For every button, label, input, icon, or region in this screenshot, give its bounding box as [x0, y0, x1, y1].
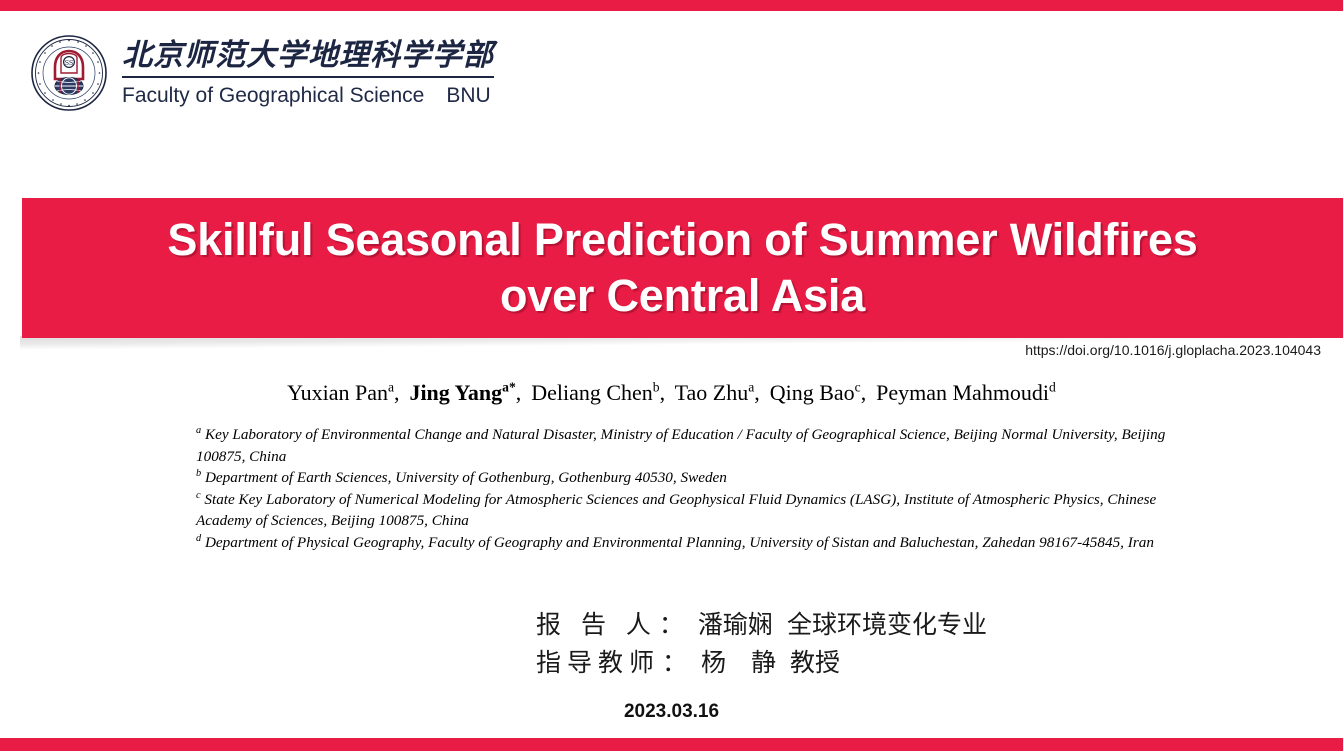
advisor-name: 杨 静: [701, 648, 776, 677]
institution-header: SS 北京师范大学地理科学学部 Faculty of Geographical …: [30, 34, 494, 112]
author-affiliation-marker: a*: [502, 380, 516, 395]
presentation-date: 2023.03.16: [0, 700, 1343, 724]
speaker-name: 潘瑜娴: [698, 610, 773, 639]
speaker-colon: ：: [659, 610, 684, 639]
author-separator: ,: [394, 380, 409, 405]
author-entry: Qing Baoc: [770, 380, 861, 405]
author-name: Deliang Chen: [531, 380, 653, 405]
institution-abbr: BNU: [446, 84, 490, 107]
author-entry: Yuxian Pana: [287, 380, 394, 405]
author-entry: Jing Yanga*: [409, 380, 515, 405]
author-name: Peyman Mahmoudi: [876, 380, 1049, 405]
advisor-title: 教授: [790, 648, 840, 677]
author-list: Yuxian Pana, Jing Yanga*, Deliang Chenb,…: [0, 378, 1343, 408]
author-name: Jing Yang: [409, 380, 502, 405]
institution-name-cn: 北京师范大学地理科学学部: [122, 38, 494, 78]
presenter-speaker-row: 报 告 人：潘瑜娴全球环境变化专业: [0, 606, 1343, 644]
affiliation-text: Department of Physical Geography, Facult…: [201, 534, 1154, 551]
affiliation-item: d Department of Physical Geography, Facu…: [196, 532, 1186, 554]
presenter-block: 报 告 人：潘瑜娴全球环境变化专业 指导教师：杨 静教授: [0, 606, 1343, 682]
affiliation-item: a Key Laboratory of Environmental Change…: [196, 424, 1186, 467]
institution-wordmark: 北京师范大学地理科学学部 Faculty of Geographical Sci…: [122, 38, 494, 109]
doi-link[interactable]: https://doi.org/10.1016/j.gloplacha.2023…: [1025, 341, 1321, 359]
university-seal-icon: SS: [30, 34, 108, 112]
presentation-title-slide: SS 北京师范大学地理科学学部 Faculty of Geographical …: [0, 0, 1343, 751]
title-line-2: over Central Asia: [500, 268, 865, 324]
author-affiliation-marker: b: [653, 380, 660, 395]
affiliation-text: Key Laboratory of Environmental Change a…: [196, 426, 1165, 465]
institution-name-en: Faculty of Geographical ScienceBNU: [122, 83, 494, 109]
author-separator: ,: [861, 380, 876, 405]
author-name: Tao Zhu: [675, 380, 749, 405]
top-accent-bar: [0, 0, 1343, 11]
title-banner: Skillful Seasonal Prediction of Summer W…: [22, 198, 1343, 338]
speaker-label: 报 告 人: [536, 610, 657, 639]
author-separator: ,: [660, 380, 675, 405]
advisor-colon: ：: [662, 648, 687, 677]
affiliation-item: b Department of Earth Sciences, Universi…: [196, 467, 1186, 489]
bottom-accent-bar: [0, 738, 1343, 751]
author-separator: ,: [516, 380, 531, 405]
affiliation-text: State Key Laboratory of Numerical Modeli…: [196, 491, 1156, 530]
author-affiliation-marker: d: [1049, 380, 1056, 395]
author-entry: Peyman Mahmoudid: [876, 380, 1056, 405]
svg-text:SS: SS: [65, 59, 74, 67]
author-name: Yuxian Pan: [287, 380, 388, 405]
affiliation-text: Department of Earth Sciences, University…: [201, 469, 727, 486]
speaker-major: 全球环境变化专业: [787, 610, 987, 639]
affiliation-item: c State Key Laboratory of Numerical Mode…: [196, 489, 1186, 532]
author-separator: ,: [754, 380, 769, 405]
author-entry: Tao Zhua: [675, 380, 755, 405]
presenter-advisor-row: 指导教师：杨 静教授: [0, 644, 1343, 682]
author-entry: Deliang Chenb: [531, 380, 659, 405]
title-line-1: Skillful Seasonal Prediction of Summer W…: [167, 212, 1197, 268]
author-name: Qing Bao: [770, 380, 855, 405]
institution-name-en-text: Faculty of Geographical Science: [122, 84, 424, 107]
affiliation-list: a Key Laboratory of Environmental Change…: [196, 424, 1186, 553]
advisor-label: 指导教师: [536, 648, 660, 677]
